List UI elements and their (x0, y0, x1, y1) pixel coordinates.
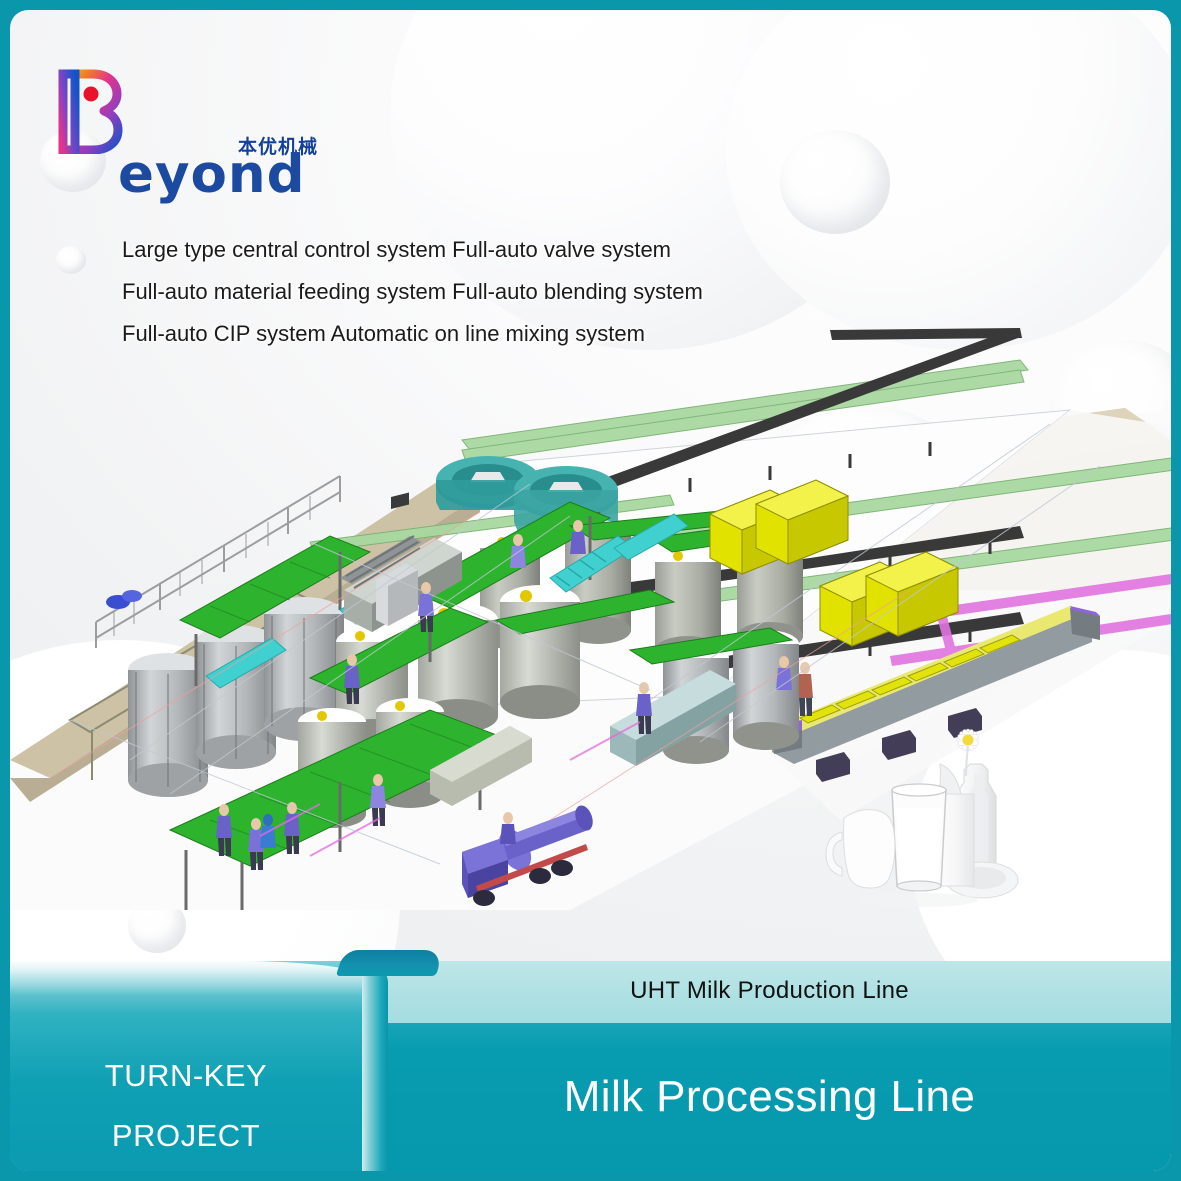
company-logo: 本优机械 eyond (50, 64, 350, 164)
logo-wordmark: eyond (118, 148, 306, 201)
fold-lip (336, 950, 444, 976)
uht-subtitle: UHT Milk Production Line (368, 977, 1171, 1005)
feature-line-1: Large type central control system Full-a… (122, 229, 882, 271)
poster-root: 本优机械 eyond Large type central control sy… (0, 0, 1181, 1181)
poster-card: 本优机械 eyond Large type central control sy… (10, 10, 1171, 1171)
milk-products-illustration (818, 722, 1048, 922)
bottom-banner: UHT Milk Production Line Milk Processing… (10, 950, 1171, 1171)
fold-edge (362, 961, 388, 1171)
subtitle-strip: UHT Milk Production Line (368, 961, 1171, 1023)
fold-gloss (10, 961, 382, 995)
banner-main-title: Milk Processing Line (368, 1072, 1171, 1122)
logo-b-mark-icon (50, 66, 130, 154)
page-fold-decoration: TURN-KEY PROJECT (10, 950, 410, 1171)
bubble-decor-left-mid (56, 246, 86, 274)
turnkey-project-label: TURN-KEY PROJECT (10, 1046, 362, 1166)
turnkey-line-1: TURN-KEY (10, 1046, 362, 1106)
turnkey-line-2: PROJECT (10, 1106, 362, 1166)
bubble-decor-right (780, 130, 890, 234)
